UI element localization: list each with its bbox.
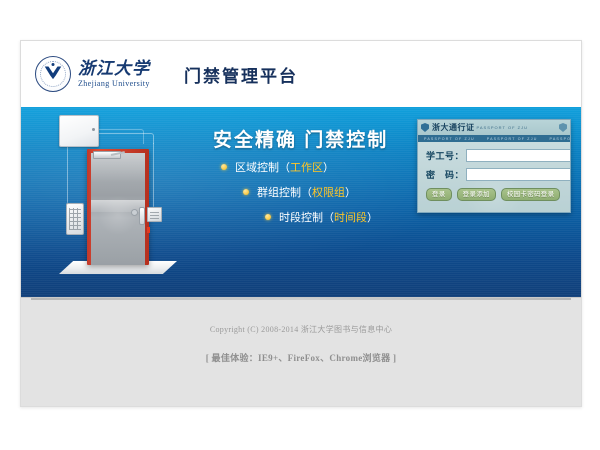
feature-tail: ） — [323, 159, 334, 175]
wire-reader — [153, 143, 155, 207]
campus-card-login-button[interactable]: 校园卡密码登录 — [501, 188, 561, 201]
bullet-dot-icon — [243, 189, 249, 195]
username-label: 学工号： — [426, 149, 466, 162]
page-title: 门禁管理平台 — [184, 62, 298, 87]
passport-strip: PASSPORT OF ZJU PASSPORT OF ZJU PASSPORT… — [418, 135, 570, 142]
shield-icon — [421, 123, 429, 132]
feature-label: 时段控制（ — [279, 209, 334, 225]
university-logo[interactable]: 浙江大学 Zhejiang University — [35, 56, 150, 92]
feature-tail: ） — [367, 209, 378, 225]
list-item: 时段控制（时间段） — [265, 209, 378, 225]
username-row: 学工号： — [426, 149, 562, 162]
access-controller-box-icon — [59, 115, 99, 147]
browser-support-note: [ 最佳体验：IE9+、FireFox、Chrome浏览器 ] — [206, 351, 397, 364]
feature-label: 群组控制（ — [257, 184, 312, 200]
login-button[interactable]: 登录 — [426, 188, 452, 201]
password-input[interactable] — [466, 168, 571, 181]
login-add-button[interactable]: 登录添加 — [457, 188, 496, 201]
university-name: 浙江大学 Zhejiang University — [78, 60, 150, 88]
card-reader-icon — [147, 207, 162, 222]
bullet-dot-icon — [221, 164, 227, 170]
password-row: 密 码： — [426, 168, 562, 181]
copyright-text: Copyright (C) 2008-2014 浙江大学图书与信息中心 — [210, 324, 392, 335]
login-form: 学工号： 密 码： — [418, 142, 570, 181]
login-panel: 浙大通行证 PASSPORT OF ZJU PASSPORT OF ZJU PA… — [417, 119, 571, 213]
login-title-cn: 浙大通行证 — [432, 122, 475, 133]
lock-indicator — [147, 227, 150, 233]
wire-top-2 — [97, 129, 144, 144]
shield-icon-right — [559, 123, 567, 132]
page-container: 浙江大学 Zhejiang University 门禁管理平台 — [20, 40, 582, 407]
strip-text: PASSPORT OF ZJU — [544, 137, 571, 141]
keypad-reader-icon — [66, 203, 84, 235]
feature-list: 区域控制（工作区） 群组控制（权限组） 时段控制（时间段） — [221, 159, 378, 234]
bullet-dot-icon — [265, 214, 271, 220]
login-title-en: PASSPORT OF ZJU — [477, 125, 528, 130]
feature-label: 区域控制（ — [235, 159, 290, 175]
door-knob — [131, 209, 138, 216]
login-panel-header: 浙大通行证 PASSPORT OF ZJU — [418, 120, 570, 135]
banner-headline: 安全精确 门禁控制 — [213, 125, 388, 152]
university-name-cn: 浙江大学 — [78, 60, 150, 77]
feature-tail: ） — [345, 184, 356, 200]
username-input[interactable] — [466, 149, 571, 162]
feature-highlight: 权限组 — [312, 184, 345, 200]
university-name-en: Zhejiang University — [78, 80, 150, 88]
door-illustration — [43, 111, 193, 287]
strip-text: PASSPORT OF ZJU — [481, 137, 544, 141]
feature-highlight: 时间段 — [334, 209, 367, 225]
list-item: 群组控制（权限组） — [243, 184, 378, 200]
list-item: 区域控制（工作区） — [221, 159, 378, 175]
wire-keypad — [67, 145, 69, 203]
feature-highlight: 工作区 — [290, 159, 323, 175]
security-door-icon — [87, 149, 149, 265]
password-label: 密 码： — [426, 168, 466, 181]
strip-text: PASSPORT OF ZJU — [418, 137, 481, 141]
door-handle — [139, 207, 145, 225]
hero-banner: 安全精确 门禁控制 区域控制（工作区） 群组控制（权限组） 时段控制（时间段） … — [21, 107, 581, 297]
site-header: 浙江大学 Zhejiang University 门禁管理平台 — [21, 41, 581, 107]
zju-seal-icon — [35, 56, 71, 92]
footer-divider — [31, 298, 571, 300]
site-footer: Copyright (C) 2008-2014 浙江大学图书与信息中心 [ 最佳… — [21, 297, 581, 407]
login-buttons: 登录 登录添加 校园卡密码登录 — [418, 187, 570, 201]
